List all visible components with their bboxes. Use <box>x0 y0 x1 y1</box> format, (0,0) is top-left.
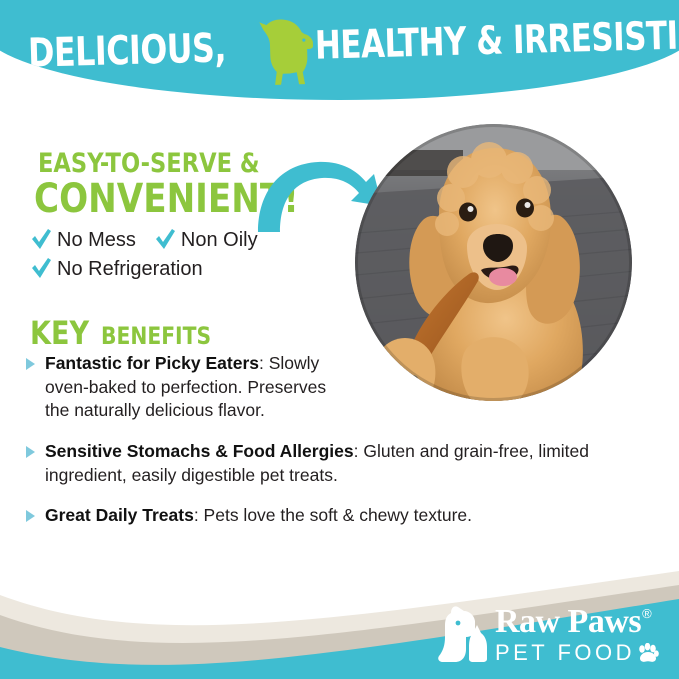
dog-silhouette-icon <box>256 15 320 89</box>
benefit-item: Great Daily Treats: Pets love the soft &… <box>24 504 664 528</box>
convenience-checklist: No Mess Non Oily No Refrigeration <box>30 228 340 286</box>
benefit-title: Sensitive Stomachs & Food Allergies <box>45 441 354 461</box>
brand-name-row: Raw Paws ® <box>495 605 659 639</box>
triangle-bullet-icon <box>26 358 35 370</box>
header-word-delicious: DELICIOUS, <box>28 28 227 74</box>
benefit-text: Great Daily Treats: Pets love the soft &… <box>45 504 472 528</box>
key-benefits-heading-key: KEY <box>30 314 89 352</box>
brand-tagline-row: PET FOOD <box>495 642 659 664</box>
triangle-bullet-icon <box>26 446 35 458</box>
brand-logo[interactable]: Raw Paws ® PET FOOD <box>433 603 659 665</box>
check-item-no-refrigeration: No Refrigeration <box>30 257 203 281</box>
benefit-title: Fantastic for Picky Eaters <box>45 353 259 373</box>
check-label: No Mess <box>57 229 136 251</box>
benefit-title: Great Daily Treats <box>45 505 194 525</box>
key-benefits-heading: KEY BENEFITS <box>30 314 218 352</box>
checkmark-icon <box>30 257 52 281</box>
key-benefits-list: Fantastic for Picky Eaters: Slowly oven-… <box>24 352 664 545</box>
benefit-body: : Pets love the soft & chewy texture. <box>194 505 472 525</box>
check-label: Non Oily <box>181 229 258 251</box>
header-title: DELICIOUS, HEALTHY & IRRESISTIBLE <box>27 5 658 85</box>
checklist-row-2: No Refrigeration <box>30 257 340 281</box>
dog-cat-silhouette-icon <box>433 603 491 665</box>
infographic-root: DELICIOUS, HEALTHY & IRRESISTIBLE EASY-T… <box>0 0 679 679</box>
benefit-item: Sensitive Stomachs & Food Allergies: Glu… <box>24 440 664 487</box>
brand-tagline: PET FOOD <box>495 642 635 664</box>
key-benefits-heading-benefits: BENEFITS <box>101 322 211 350</box>
easy-to-serve-line: EASY-TO-SERVE & <box>38 148 260 179</box>
registered-trademark-symbol: ® <box>642 607 651 620</box>
benefit-text: Sensitive Stomachs & Food Allergies: Glu… <box>45 440 655 487</box>
check-item-no-mess: No Mess <box>30 228 136 252</box>
paw-print-icon <box>637 643 659 663</box>
header-banner: DELICIOUS, HEALTHY & IRRESISTIBLE <box>0 0 679 100</box>
triangle-bullet-icon <box>26 510 35 522</box>
benefit-item: Fantastic for Picky Eaters: Slowly oven-… <box>24 352 354 423</box>
check-label: No Refrigeration <box>57 258 203 280</box>
header-banner-inner: DELICIOUS, HEALTHY & IRRESISTIBLE <box>0 0 679 100</box>
check-item-non-oily: Non Oily <box>154 228 258 252</box>
footer-banner: Raw Paws ® PET FOOD <box>0 559 679 679</box>
brand-logo-text: Raw Paws ® PET FOOD <box>495 605 659 664</box>
header-word-healthy-irresistible: HEALTHY & IRRESISTIBLE <box>314 14 679 65</box>
checkmark-icon <box>154 228 176 252</box>
brand-name: Raw Paws <box>495 605 641 639</box>
checkmark-icon <box>30 228 52 252</box>
benefit-text: Fantastic for Picky Eaters: Slowly oven-… <box>45 352 345 423</box>
puppy-photo <box>355 124 632 401</box>
